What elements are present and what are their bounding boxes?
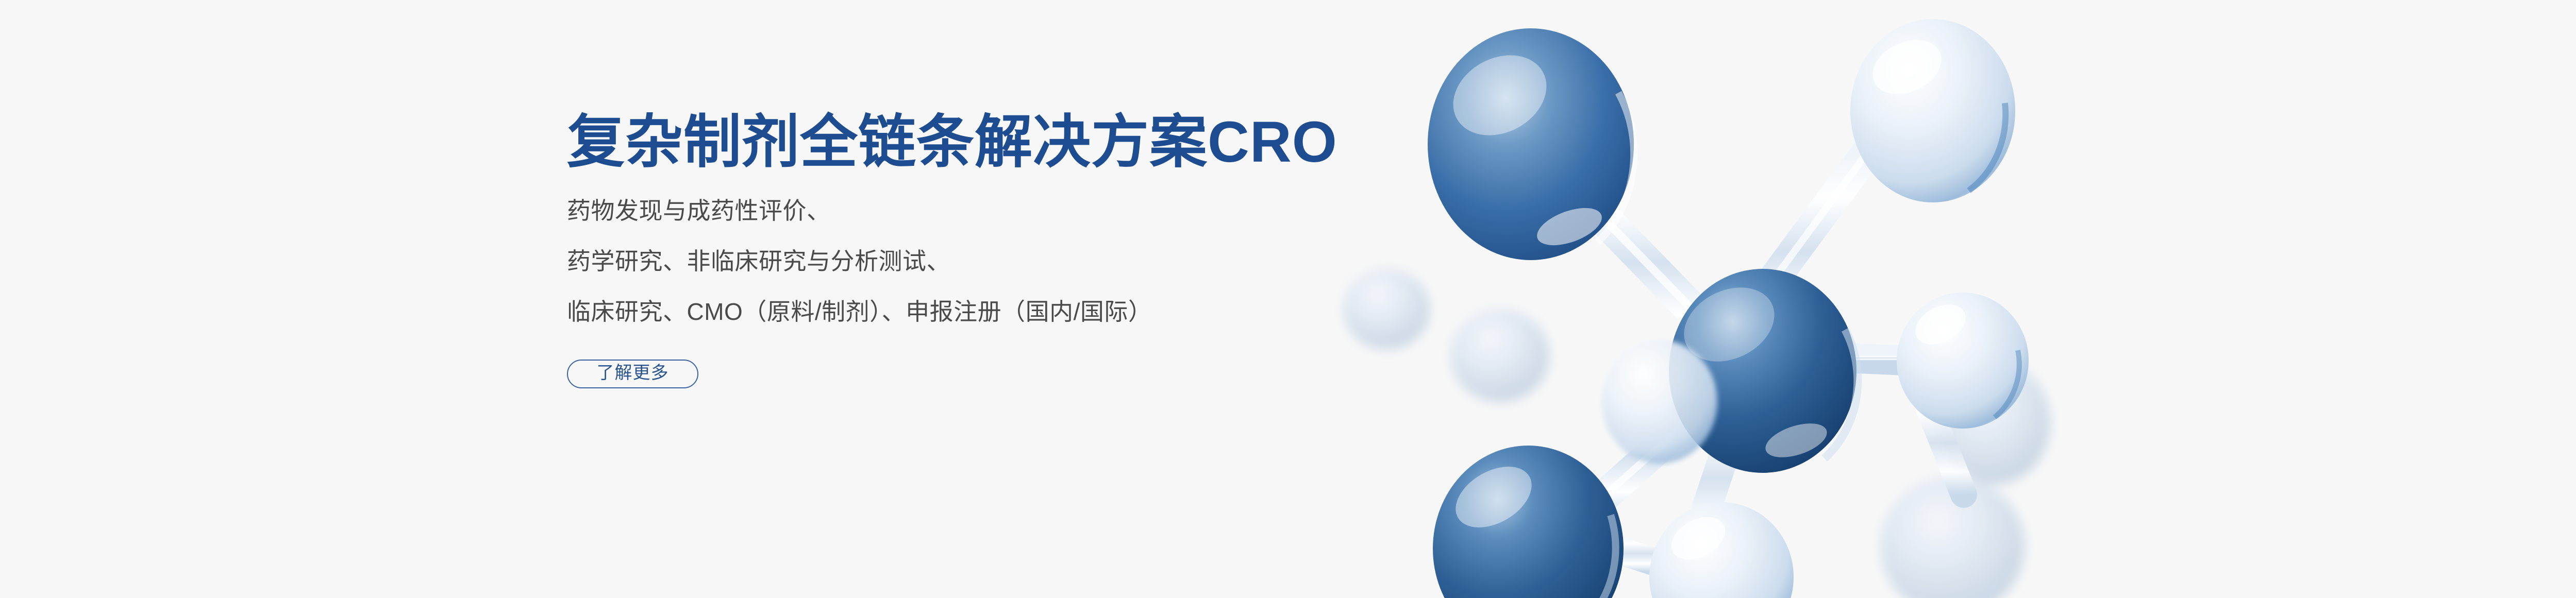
subtitle-line-2: 药学研究、非临床研究与分析测试、 bbox=[567, 249, 1443, 273]
atom-sphere-glass-right bbox=[1897, 293, 2029, 429]
hero-copy-block: 复杂制剂全链条解决方案CRO 药物发现与成药性评价、 药学研究、非临床研究与分析… bbox=[567, 108, 1443, 388]
atom-sphere-blue-bottomleft bbox=[1433, 446, 1624, 598]
subtitle-list: 药物发现与成药性评价、 药学研究、非临床研究与分析测试、 临床研究、CMO（原料… bbox=[567, 199, 1443, 323]
cta-container: 了解更多 bbox=[567, 360, 1443, 388]
atom-sphere-glass-mid bbox=[1602, 340, 1717, 464]
page-title: 复杂制剂全链条解决方案CRO bbox=[567, 108, 1443, 176]
hero-banner: 复杂制剂全链条解决方案CRO 药物发现与成药性评价、 药学研究、非临床研究与分析… bbox=[0, 0, 2576, 598]
atom-sphere-glass-bottom bbox=[1649, 502, 1794, 598]
atom-sphere-blue-topleft bbox=[1428, 28, 1634, 260]
subtitle-line-1: 药物发现与成药性评价、 bbox=[567, 199, 1443, 223]
atom-sphere-glass-topright bbox=[1850, 19, 2015, 202]
subtitle-line-3: 临床研究、CMO（原料/制剂）、申报注册（国内/国际） bbox=[567, 300, 1443, 323]
learn-more-button[interactable]: 了解更多 bbox=[567, 360, 698, 388]
